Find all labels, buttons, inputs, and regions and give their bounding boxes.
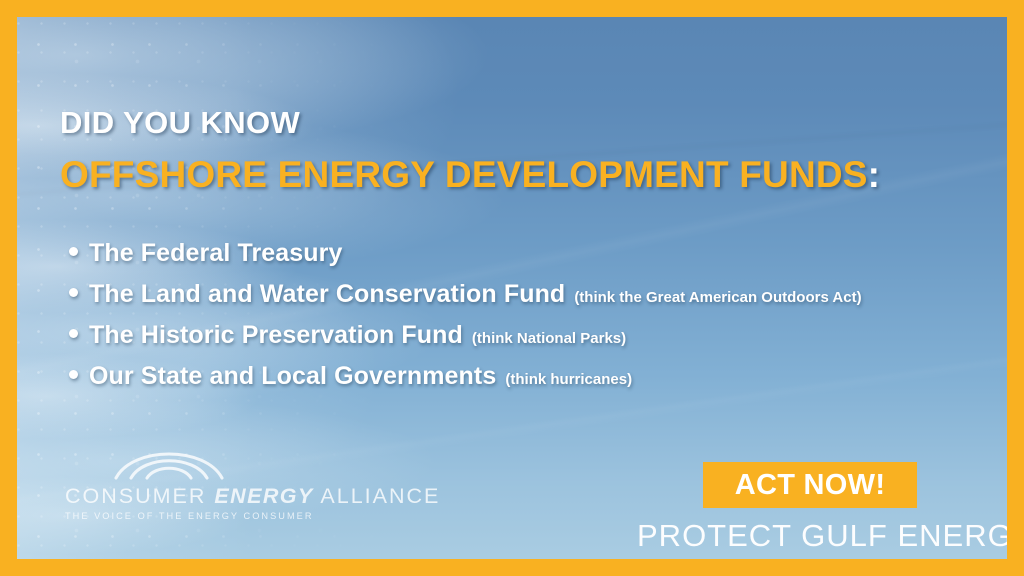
list-item-label: The Federal Treasury: [89, 239, 343, 268]
bullet-dot-icon: [69, 288, 78, 297]
logo-wordmark: CONSUMER ENERGY ALLIANCE: [65, 486, 440, 508]
act-now-button[interactable]: ACT NOW!: [703, 462, 917, 508]
logo-word-alliance: ALLIANCE: [320, 484, 440, 508]
campaign-graphic: DID YOU KNOW OFFSHORE ENERGY DEVELOPMENT…: [0, 0, 1024, 576]
list-item-label: The Land and Water Conservation Fund: [89, 280, 565, 309]
logo-word-consumer: CONSUMER: [65, 484, 206, 508]
photo-panel: DID YOU KNOW OFFSHORE ENERGY DEVELOPMENT…: [17, 17, 1007, 559]
bullet-dot-icon: [69, 370, 78, 379]
headline-main-text: OFFSHORE ENERGY DEVELOPMENT FUNDS: [60, 154, 868, 195]
list-item: The Federal Treasury: [69, 239, 862, 280]
bullet-dot-icon: [69, 247, 78, 256]
headline-block: DID YOU KNOW OFFSHORE ENERGY DEVELOPMENT…: [60, 107, 960, 193]
consumer-energy-alliance-logo: CONSUMER ENERGY ALLIANCE THE VOICE OF TH…: [65, 444, 440, 522]
cta-tagline: PROTECT GULF ENERGY: [637, 520, 1007, 551]
fund-list: The Federal Treasury The Land and Water …: [69, 239, 862, 403]
arcs-icon: [113, 444, 225, 480]
logo-word-energy: ENERGY: [214, 484, 313, 508]
list-item-label: The Historic Preservation Fund: [89, 321, 463, 350]
headline-kicker: DID YOU KNOW: [60, 107, 960, 138]
list-item: Our State and Local Governments (think h…: [69, 362, 862, 403]
headline-main: OFFSHORE ENERGY DEVELOPMENT FUNDS:: [60, 156, 960, 193]
list-item-label: Our State and Local Governments: [89, 362, 496, 391]
list-item-note: (think hurricanes): [505, 371, 632, 388]
list-item-note: (think National Parks): [472, 330, 626, 347]
list-item: The Land and Water Conservation Fund (th…: [69, 280, 862, 321]
bullet-dot-icon: [69, 329, 78, 338]
list-item: The Historic Preservation Fund (think Na…: [69, 321, 862, 362]
headline-main-colon: :: [868, 154, 881, 195]
logo-tagline: THE VOICE OF THE ENERGY CONSUMER: [65, 511, 440, 521]
content-layer: DID YOU KNOW OFFSHORE ENERGY DEVELOPMENT…: [17, 17, 1007, 559]
list-item-note: (think the Great American Outdoors Act): [574, 289, 861, 306]
act-now-button-label: ACT NOW!: [735, 471, 886, 500]
